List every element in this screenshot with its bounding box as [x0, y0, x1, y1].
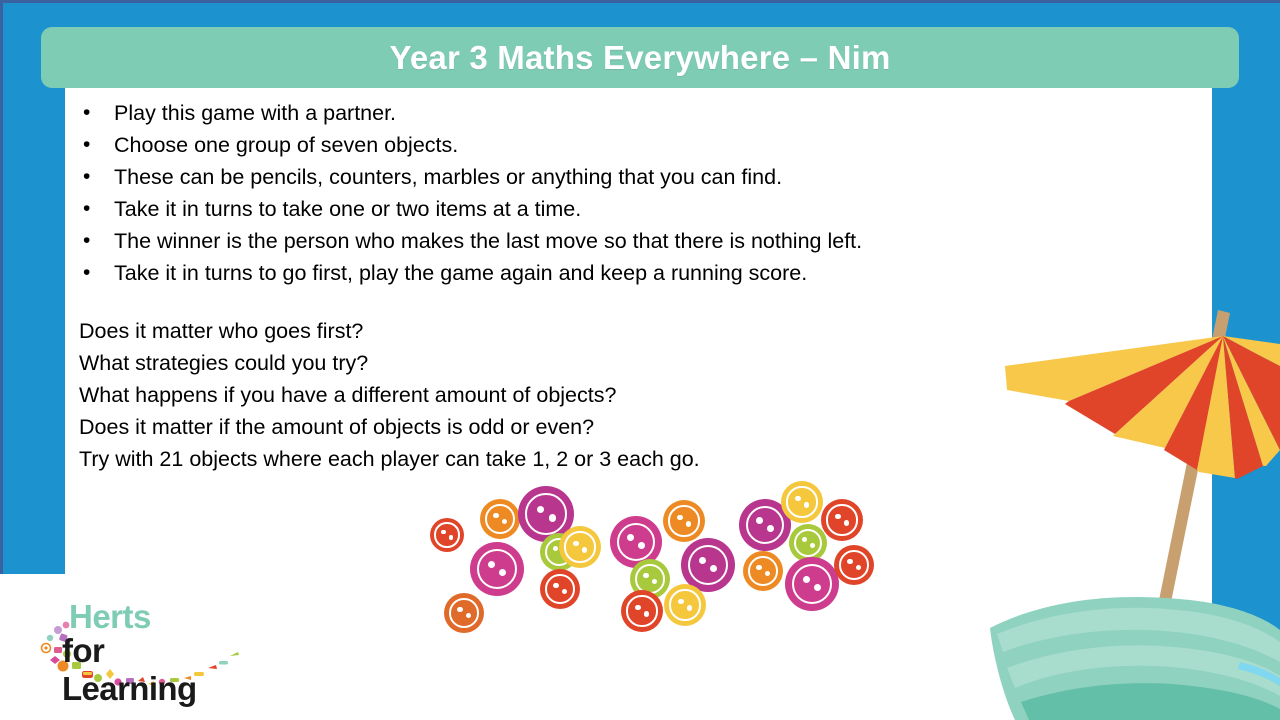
list-item-label: Choose one group of seven objects.: [114, 129, 458, 161]
list-item-label: These can be pencils, counters, marbles …: [114, 161, 782, 193]
bullet-marker-icon: •: [78, 129, 114, 161]
background-blue-right-strip: [1212, 0, 1280, 720]
button-hole: [549, 514, 556, 521]
button-hole: [844, 520, 849, 525]
bullet-marker-icon: •: [78, 97, 114, 129]
button-inner-ring: [839, 550, 869, 580]
list-item-label: Take it in turns to go first, play the g…: [114, 257, 807, 289]
button-inner-ring: [449, 598, 479, 628]
bullet-marker-icon: •: [78, 225, 114, 257]
button-hole: [756, 565, 761, 570]
button-hole: [795, 496, 800, 501]
button-hole: [677, 515, 682, 520]
question-line: What strategies could you try?: [79, 347, 1129, 379]
list-item: • Choose one group of seven objects.: [78, 129, 1128, 161]
page-title: Year 3 Maths Everywhere – Nim: [389, 39, 890, 77]
button-inner-ring: [688, 545, 728, 585]
decorative-button-icon: [444, 593, 484, 633]
button-inner-ring: [668, 505, 699, 536]
decorative-button-icon: [781, 481, 823, 523]
herts-for-learning-logo: Herts for Learning: [36, 598, 246, 698]
top-border-rule: [0, 0, 1280, 3]
button-hole: [686, 521, 691, 526]
button-inner-ring: [626, 595, 657, 626]
decorative-button-icon: [663, 500, 705, 542]
button-hole: [644, 611, 649, 616]
button-inner-ring: [485, 504, 515, 534]
logo-card: Herts for Learning: [0, 574, 262, 720]
question-list: Does it matter who goes first? What stra…: [79, 315, 1129, 475]
button-hole: [553, 583, 558, 588]
button-inner-ring: [434, 522, 459, 547]
button-inner-ring: [477, 549, 517, 589]
buttons-decoration: [420, 480, 890, 645]
button-hole: [573, 541, 578, 546]
decorative-button-icon: [480, 499, 520, 539]
decorative-button-icon: [621, 590, 663, 632]
bullet-marker-icon: •: [78, 193, 114, 225]
button-inner-ring: [746, 506, 784, 544]
button-inner-ring: [826, 504, 857, 535]
button-inner-ring: [545, 574, 575, 604]
button-hole: [804, 502, 809, 507]
bullet-marker-icon: •: [78, 161, 114, 193]
button-inner-ring: [669, 589, 700, 620]
decorative-button-icon: [743, 551, 783, 591]
button-inner-ring: [564, 531, 595, 562]
button-hole: [457, 607, 462, 612]
button-hole: [643, 573, 648, 578]
button-hole: [687, 605, 692, 610]
button-hole: [847, 559, 852, 564]
button-inner-ring: [792, 564, 832, 604]
decorative-button-icon: [430, 518, 464, 552]
bullet-marker-icon: •: [78, 257, 114, 289]
question-line: Does it matter if the amount of objects …: [79, 411, 1129, 443]
slide-canvas: Year 3 Maths Everywhere – Nim • Play thi…: [0, 0, 1280, 720]
list-item: • Play this game with a partner.: [78, 97, 1128, 129]
button-inner-ring: [794, 529, 822, 557]
list-item-label: Play this game with a partner.: [114, 97, 396, 129]
list-item-label: Take it in turns to take one or two item…: [114, 193, 581, 225]
button-inner-ring: [748, 556, 778, 586]
left-border-rule: [0, 0, 3, 574]
list-item: • The winner is the person who makes the…: [78, 225, 1128, 257]
button-inner-ring: [525, 493, 566, 534]
button-hole: [678, 599, 683, 604]
list-item: • These can be pencils, counters, marble…: [78, 161, 1128, 193]
question-line: What happens if you have a different amo…: [79, 379, 1129, 411]
button-hole: [493, 513, 498, 518]
button-hole: [810, 543, 815, 548]
button-inner-ring: [786, 486, 817, 517]
list-item: • Take it in turns to take one or two it…: [78, 193, 1128, 225]
button-hole: [835, 514, 840, 519]
list-item: • Take it in turns to go first, play the…: [78, 257, 1128, 289]
decorative-button-icon: [664, 584, 706, 626]
button-hole: [449, 535, 453, 539]
logo-line-2: for Learning: [62, 632, 246, 708]
list-item-label: The winner is the person who makes the l…: [114, 225, 862, 257]
button-inner-ring: [617, 523, 655, 561]
decorative-button-icon: [785, 557, 839, 611]
button-hole: [582, 547, 587, 552]
decorative-button-icon: [821, 499, 863, 541]
question-line: Try with 21 objects where each player ca…: [79, 443, 1129, 475]
question-line: Does it matter who goes first?: [79, 315, 1129, 347]
decorative-button-icon: [559, 526, 601, 568]
decorative-button-icon: [834, 545, 874, 585]
logo-line-1: Herts: [69, 598, 151, 636]
title-bar: Year 3 Maths Everywhere – Nim: [41, 27, 1239, 88]
decorative-button-icon: [540, 569, 580, 609]
instruction-list: • Play this game with a partner. • Choos…: [78, 97, 1128, 289]
button-hole: [635, 605, 640, 610]
decorative-button-icon: [470, 542, 524, 596]
